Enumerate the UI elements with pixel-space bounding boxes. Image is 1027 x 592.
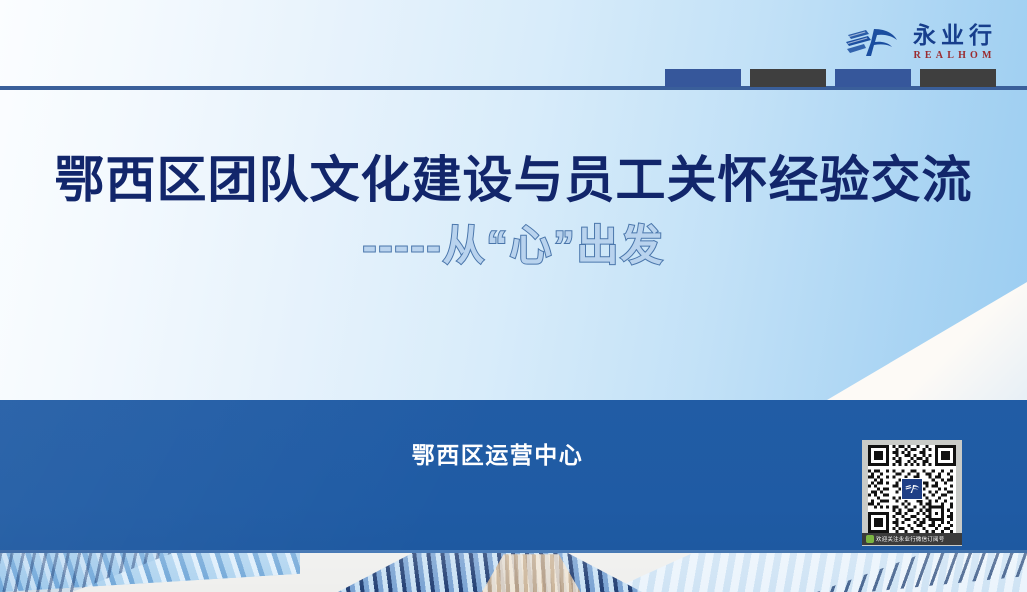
brand-name-en: REALHOM: [909, 51, 995, 61]
wechat-qr-code[interactable]: 欢迎关注永业行微信订阅号: [862, 440, 962, 546]
brand-logo-text: 永业行 REALHOM: [908, 24, 997, 61]
color-block-3: [835, 69, 911, 87]
presentation-slide: 永业行 REALHOM 鄂西区团队文化建设与员工关怀经验交流 -----从“心”…: [0, 0, 1027, 592]
yh-monogram-icon: [844, 26, 900, 60]
brand-logo: 永业行 REALHOM: [844, 24, 997, 61]
color-block-2: [750, 69, 826, 87]
building-strip-divider: [0, 550, 1027, 553]
color-block-1: [665, 69, 741, 87]
color-block-4: [920, 69, 996, 87]
brand-name-cn: 永业行: [908, 24, 997, 47]
qr-caption-text: 欢迎关注永业行微信订阅号: [876, 535, 944, 543]
wechat-icon: [866, 535, 874, 543]
page-subtitle: -----从“心”出发: [0, 212, 1027, 273]
page-title: 鄂西区团队文化建设与员工关怀经验交流: [0, 140, 1027, 212]
glass-building-facade-photo: [0, 550, 1027, 592]
qr-center-yh-monogram-icon: [901, 478, 923, 500]
decorative-color-blocks: [665, 69, 996, 87]
qr-caption-bar: 欢迎关注永业行微信订阅号: [862, 533, 962, 545]
white-diagonal-wedge: [827, 282, 1027, 400]
presenter-label: 鄂西区运营中心: [0, 436, 1011, 470]
